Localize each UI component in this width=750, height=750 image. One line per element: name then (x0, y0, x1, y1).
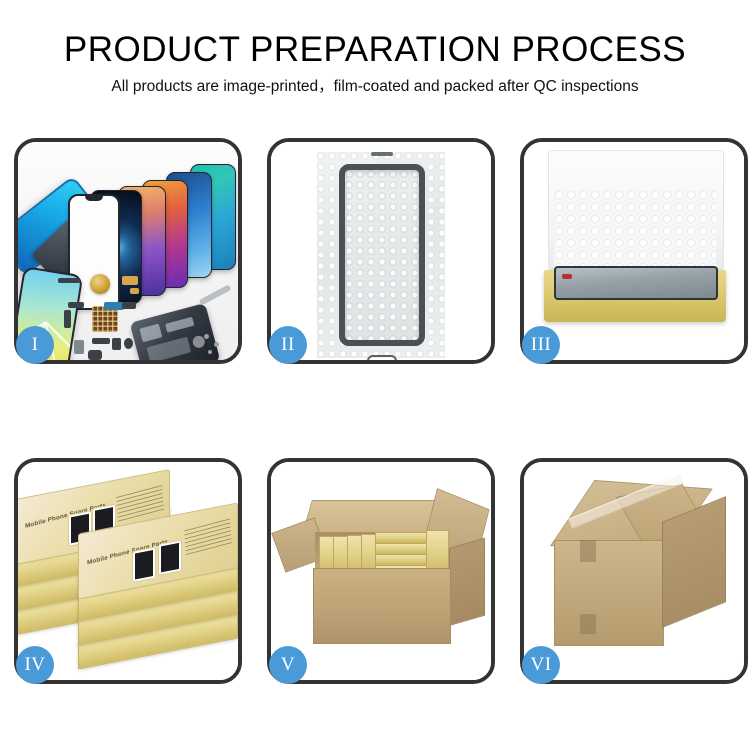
step-image-2 (271, 142, 491, 360)
screw-2-icon (214, 342, 219, 347)
carton-flap-seam-bottom (580, 614, 596, 634)
part-small-icon (122, 302, 136, 309)
foam-padding (554, 190, 716, 268)
step-panel-3: III (520, 138, 748, 364)
step-image-5 (271, 462, 491, 680)
flex-cable-3-icon (104, 302, 124, 310)
step-badge-1: I (16, 326, 54, 364)
earpiece-slot-icon (371, 152, 393, 156)
box-lid-label-front: Mobile Phone Spare Parts (87, 538, 168, 566)
step-panel-4: Mobile Phone Spare Parts Mobile Phone Sp… (14, 458, 242, 684)
step-badge-6: VI (522, 646, 560, 684)
sealed-carton-image (524, 462, 744, 680)
carton-right-side (449, 538, 485, 626)
flex-cable-1-icon (122, 276, 138, 285)
home-button-slot-icon (367, 355, 397, 360)
step-badge-4: IV (16, 646, 54, 684)
wrapped-screen-icon (339, 164, 425, 346)
stacked-inner-boxes-image: Mobile Phone Spare Parts Mobile Phone Sp… (18, 462, 238, 680)
step-image-6 (524, 462, 744, 680)
flex-cable-2-icon (130, 288, 139, 294)
part-button-icon (112, 338, 121, 350)
box-lid-thumb-front-1 (133, 548, 155, 582)
box-lid-textlines-front (184, 517, 232, 555)
screen-in-open-inner-box-image (524, 142, 744, 360)
open-carton-with-boxes-image (271, 462, 491, 680)
step-badge-2: II (269, 326, 307, 364)
page-header: PRODUCT PREPARATION PROCESS All products… (0, 28, 750, 98)
box-lid-thumb-front-2 (159, 541, 181, 575)
step-image-1 (18, 142, 238, 360)
carton-front-side (313, 568, 451, 644)
box-lid-textlines-back (116, 484, 164, 522)
page-title: PRODUCT PREPARATION PROCESS (0, 28, 750, 72)
page-subtitle: All products are image-printed，film-coat… (0, 76, 750, 98)
phone-backplate-icon (130, 303, 221, 360)
part-camera-icon (124, 338, 133, 349)
step-panel-5: V (267, 458, 495, 684)
step-image-4: Mobile Phone Spare Parts Mobile Phone Sp… (18, 462, 238, 680)
step-panel-2: II (267, 138, 495, 364)
part-bar-icon (92, 338, 110, 344)
part-bracket-icon (64, 310, 71, 328)
bubble-wrapped-screen-image (271, 142, 491, 360)
screw-3-icon (208, 350, 212, 354)
product-preparation-process-page: PRODUCT PREPARATION PROCESS All products… (0, 0, 750, 750)
screen-in-tray-icon (554, 266, 718, 300)
box-stack: Mobile Phone Spare Parts Mobile Phone Sp… (20, 480, 234, 676)
part-housing-icon (88, 350, 102, 360)
part-connector-icon (68, 302, 84, 308)
step-panel-1: I (14, 138, 242, 364)
carton-flap-seam-top (580, 540, 596, 562)
step-panel-6: VI (520, 458, 748, 684)
step-badge-3: III (522, 326, 560, 364)
step-badge-5: V (269, 646, 307, 684)
tweezers-icon (199, 284, 232, 305)
speaker-part-icon (90, 274, 110, 294)
step-image-3 (524, 142, 744, 360)
part-sim-tray-icon (74, 340, 84, 354)
screw-1-icon (204, 334, 209, 339)
part-strip-icon (58, 278, 80, 283)
phone-screens-and-parts-image (18, 142, 238, 360)
carton-front-face (554, 540, 664, 646)
process-steps-grid: I II (14, 138, 736, 684)
